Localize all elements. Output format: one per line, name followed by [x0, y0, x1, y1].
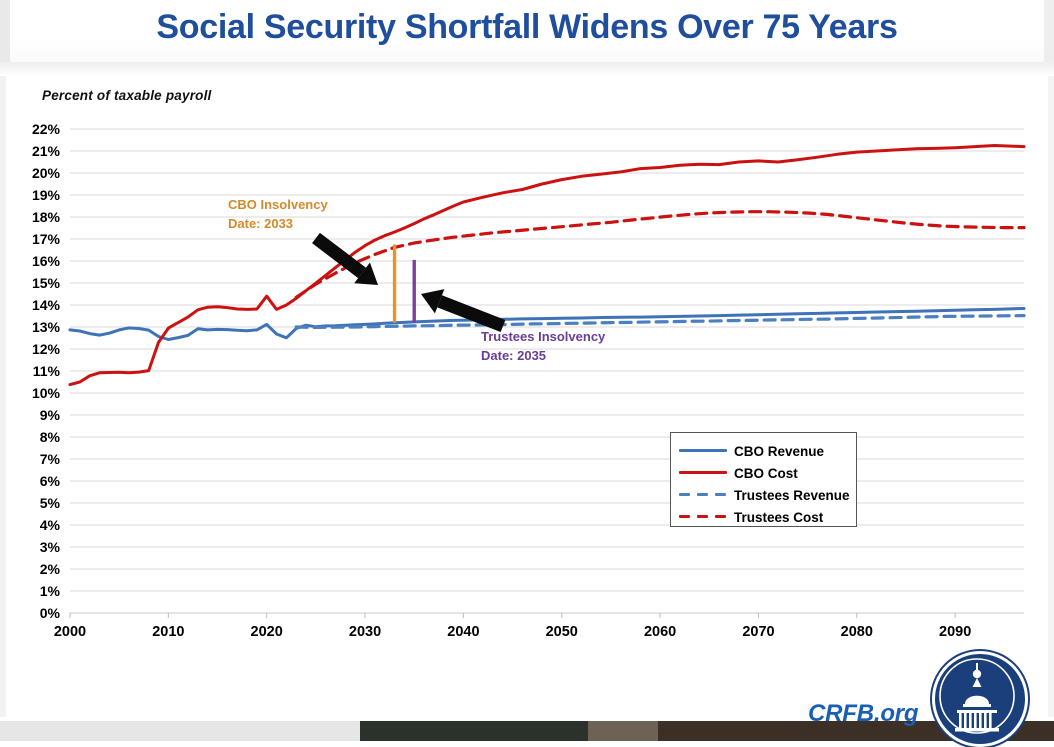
y-axis-tick-label: 0%	[10, 605, 60, 621]
y-axis-tick-label: 4%	[10, 517, 60, 533]
y-axis-tick-label: 17%	[10, 231, 60, 247]
x-axis-tick-label: 2050	[546, 624, 578, 640]
y-axis-tick-label: 8%	[10, 429, 60, 445]
x-axis-tick-label: 2000	[54, 624, 86, 640]
x-axis-tick-label: 2060	[644, 624, 676, 640]
x-axis-tick-label: 2040	[447, 624, 479, 640]
legend-swatch-dashed-icon	[677, 488, 729, 502]
crfb-wordmark[interactable]: CRFB.org	[808, 700, 918, 728]
chart-legend: CBO Revenue CBO Cost Trustees Revenue Tr…	[670, 432, 857, 527]
x-axis-tick-label: 2090	[939, 624, 971, 640]
x-axis-tick-label: 2010	[152, 624, 184, 640]
y-axis-tick-label: 5%	[10, 495, 60, 511]
annotation-trustees-line1: Trustees Insolvency	[481, 327, 605, 346]
y-axis-tick-label: 3%	[10, 539, 60, 555]
annotation-trustees-line2: Date: 2035	[481, 346, 605, 365]
annotation-cbo-line1: CBO Insolvency	[228, 195, 328, 214]
y-axis-tick-label: 13%	[10, 319, 60, 335]
y-axis-tick-label: 10%	[10, 385, 60, 401]
legend-item-cbo-revenue: CBO Revenue	[677, 440, 850, 462]
legend-label: Trustees Revenue	[734, 488, 850, 503]
y-axis-tick-label: 21%	[10, 143, 60, 159]
y-axis-tick-label: 16%	[10, 253, 60, 269]
y-axis-tick-label: 1%	[10, 583, 60, 599]
legend-label: CBO Revenue	[734, 444, 824, 459]
y-axis-tick-label: 11%	[10, 363, 60, 379]
y-axis-tick-label: 22%	[10, 121, 60, 137]
annotation-cbo-insolvency: CBO Insolvency Date: 2033	[228, 195, 328, 233]
y-axis-tick-label: 2%	[10, 561, 60, 577]
y-axis-tick-label: 9%	[10, 407, 60, 423]
x-axis-tick-label: 2030	[349, 624, 381, 640]
y-axis-tick-label: 15%	[10, 275, 60, 291]
legend-swatch-dashed-icon	[677, 510, 729, 524]
legend-label: Trustees Cost	[734, 510, 823, 525]
y-axis-tick-label: 20%	[10, 165, 60, 181]
legend-swatch-solid-icon	[677, 444, 729, 458]
capitol-dome-icon	[932, 651, 1028, 747]
y-axis-tick-label: 19%	[10, 187, 60, 203]
y-axis-tick-label: 7%	[10, 451, 60, 467]
x-axis-tick-label: 2080	[841, 624, 873, 640]
legend-swatch-solid-icon	[677, 466, 729, 480]
annotation-trustees-insolvency: Trustees Insolvency Date: 2035	[481, 327, 605, 365]
y-axis-tick-label: 6%	[10, 473, 60, 489]
legend-item-trustees-revenue: Trustees Revenue	[677, 484, 850, 506]
y-axis-tick-label: 18%	[10, 209, 60, 225]
y-axis-tick-label: 12%	[10, 341, 60, 357]
annotation-cbo-line2: Date: 2033	[228, 214, 328, 233]
chart-page: Social Security Shortfall Widens Over 75…	[0, 0, 1054, 741]
x-axis-tick-label: 2020	[251, 624, 283, 640]
legend-label: CBO Cost	[734, 466, 798, 481]
x-axis-tick-label: 2070	[742, 624, 774, 640]
legend-item-trustees-cost: Trustees Cost	[677, 506, 850, 528]
y-axis-tick-label: 14%	[10, 297, 60, 313]
legend-item-cbo-cost: CBO Cost	[677, 462, 850, 484]
